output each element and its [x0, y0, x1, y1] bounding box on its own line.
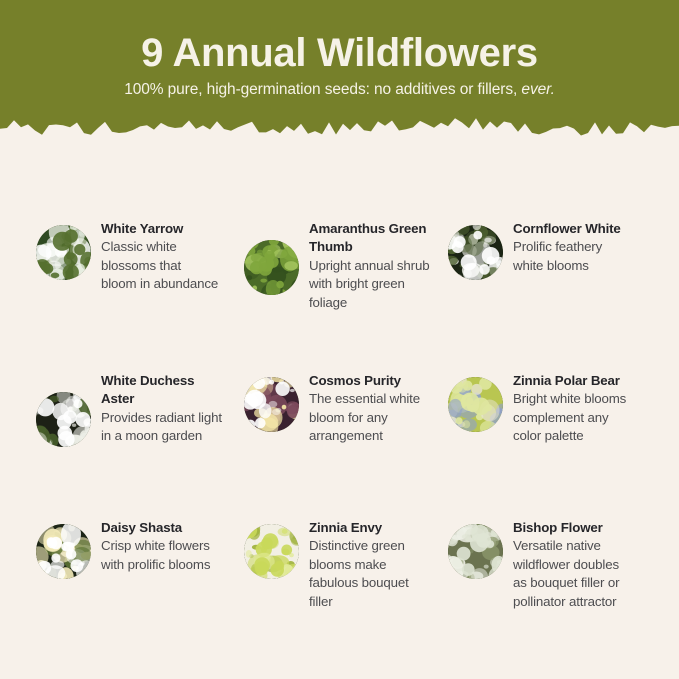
page-title: 9 Annual Wildflowers [141, 32, 538, 74]
wildflower-text-block: Zinnia EnvyDistinctive green blooms make… [309, 519, 409, 611]
subtitle-emphasis: ever. [521, 81, 554, 98]
wildflower-item: Cosmos PurityThe essential white bloom f… [244, 372, 420, 446]
wildflower-text-block: Cornflower WhiteProlific feathery white … [513, 220, 621, 275]
wildflower-name: Cornflower White [513, 220, 621, 238]
wildflower-item: Cornflower WhiteProlific feathery white … [448, 220, 621, 280]
wildflower-name: White Yarrow [101, 220, 218, 238]
wildflower-name: Daisy Shasta [101, 519, 210, 537]
daisy-shasta-photo [36, 524, 91, 579]
wildflower-description: Upright annual shrub with bright green f… [309, 257, 429, 312]
wildflower-description: Versatile native wildflower doubles as b… [513, 537, 619, 611]
wildflower-text-block: White Duchess AsterProvides radiant ligh… [101, 372, 222, 446]
subtitle-main: 100% pure, high-germination seeds: no ad… [124, 81, 521, 98]
wildflower-description: Provides radiant light in a moon garden [101, 409, 222, 446]
zinnia-envy-photo [244, 524, 299, 579]
wildflower-text-block: Daisy ShastaCrisp white flowers with pro… [101, 519, 210, 574]
amaranthus-green-thumb-photo [244, 240, 299, 295]
wildflower-item: Daisy ShastaCrisp white flowers with pro… [36, 519, 210, 579]
cosmos-purity-photo [244, 377, 299, 432]
wildflower-item: Bishop FlowerVersatile native wildflower… [448, 519, 619, 611]
wildflower-description: Classic white blossoms that bloom in abu… [101, 238, 218, 293]
wildflower-name: Amaranthus Green Thumb [309, 220, 429, 257]
white-duchess-aster-photo [36, 392, 91, 447]
wildflower-item: White Duchess AsterProvides radiant ligh… [36, 372, 222, 447]
wildflower-description: Bright white blooms complement any color… [513, 390, 626, 445]
wildflower-name: Bishop Flower [513, 519, 619, 537]
wildflower-text-block: Zinnia Polar BearBright white blooms com… [513, 372, 626, 446]
wildflower-text-block: Bishop FlowerVersatile native wildflower… [513, 519, 619, 611]
wildflower-item: Zinnia Polar BearBright white blooms com… [448, 372, 626, 446]
wildflower-item: Zinnia EnvyDistinctive green blooms make… [244, 519, 409, 611]
wildflower-description: The essential white bloom for any arrang… [309, 390, 420, 445]
header-banner: 9 Annual Wildflowers 100% pure, high-ger… [0, 0, 679, 143]
zinnia-polar-bear-photo [448, 377, 503, 432]
page-subtitle: 100% pure, high-germination seeds: no ad… [124, 81, 555, 100]
wildflower-text-block: White YarrowClassic white blossoms that … [101, 220, 218, 294]
wildflower-item: White YarrowClassic white blossoms that … [36, 220, 218, 294]
wildflower-item: Amaranthus Green ThumbUpright annual shr… [244, 220, 429, 312]
wildflower-description: Distinctive green blooms make fabulous b… [309, 537, 409, 611]
wildflower-name: Cosmos Purity [309, 372, 420, 390]
wildflower-name: Zinnia Polar Bear [513, 372, 626, 390]
bishop-flower-photo [448, 524, 503, 579]
wildflower-description: Prolific feathery white blooms [513, 238, 621, 275]
white-yarrow-photo [36, 225, 91, 280]
wildflower-grid: White YarrowClassic white blossoms that … [0, 143, 679, 679]
cornflower-white-photo [448, 225, 503, 280]
wildflower-description: Crisp white flowers with prolific blooms [101, 537, 210, 574]
wildflower-text-block: Cosmos PurityThe essential white bloom f… [309, 372, 420, 446]
wildflower-text-block: Amaranthus Green ThumbUpright annual shr… [309, 220, 429, 312]
wildflower-name: Zinnia Envy [309, 519, 409, 537]
wildflower-name: White Duchess Aster [101, 372, 222, 409]
